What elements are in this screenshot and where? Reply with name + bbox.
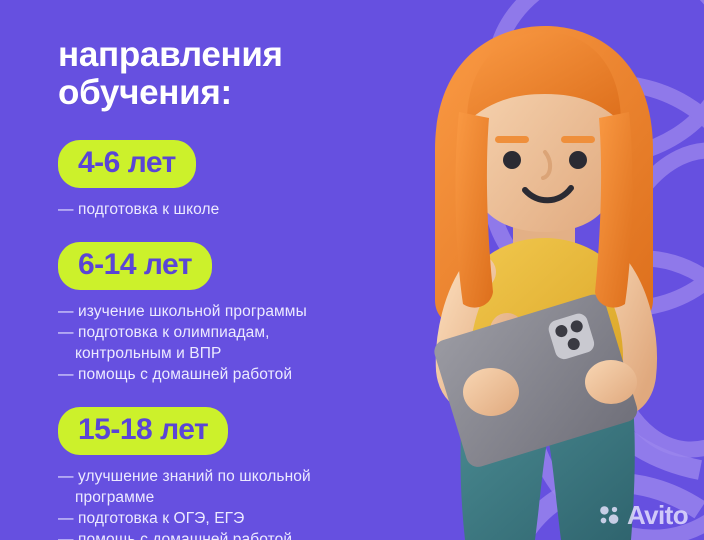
benefit-list-4-6: — подготовка к школе <box>58 200 400 221</box>
benefit-list-15-18: — улучшение знаний по школьной программе… <box>58 467 400 540</box>
list-item: — подготовка к олимпиадам, контрольным и… <box>58 323 400 365</box>
benefit-list-6-14: — изучение школьной программы — подготов… <box>58 302 400 385</box>
avito-dots-icon <box>598 504 620 526</box>
page-title: направления обучения: <box>58 36 400 112</box>
age-section-15-18: 15-18 лет — улучшение знаний по школьной… <box>58 407 400 540</box>
list-item: — помощь с домашней работой <box>58 365 400 386</box>
promo-poster: направления обучения: 4-6 лет — подготов… <box>0 0 704 540</box>
list-item: — улучшение знаний по школьной программе <box>58 467 400 509</box>
illustration-girl-with-tablet <box>395 0 704 540</box>
list-item: — подготовка к школе <box>58 200 400 221</box>
list-item: — изучение школьной программы <box>58 302 400 323</box>
content-column: направления обучения: 4-6 лет — подготов… <box>0 0 400 540</box>
list-item: — помощь с домашней работой и подготовко… <box>58 530 400 540</box>
avito-watermark: Avito <box>598 502 688 528</box>
avito-wordmark: Avito <box>627 502 688 528</box>
age-section-4-6: 4-6 лет — подготовка к школе <box>58 140 400 221</box>
age-badge-6-14: 6-14 лет <box>58 242 212 290</box>
list-item: — подготовка к ОГЭ, ЕГЭ <box>58 509 400 530</box>
age-badge-15-18: 15-18 лет <box>58 407 228 455</box>
age-section-6-14: 6-14 лет — изучение школьной программы —… <box>58 242 400 385</box>
age-badge-4-6: 4-6 лет <box>58 140 196 188</box>
